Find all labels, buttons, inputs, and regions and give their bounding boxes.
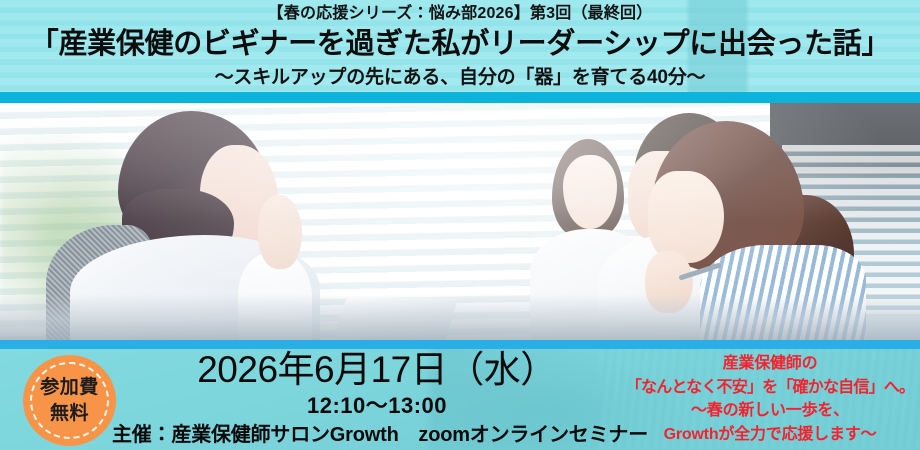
- event-info: 2026年6月17日（水） 12:10〜13:00 主催：産業保健師サロンGro…: [112, 351, 642, 446]
- hero-photo: [0, 103, 920, 340]
- pitch-line-2: 「なんとなく不安」を「確かな自信」へ。: [620, 376, 920, 400]
- divider-bottom: [0, 340, 920, 349]
- page-title: 「産業保健のビギナーを過ぎた私がリーダーシップに出会った話」: [30, 28, 890, 61]
- page-subtitle: 〜スキルアップの先にある、自分の「器」を育てる40分〜: [215, 67, 706, 89]
- event-date: 2026年6月17日（水）: [112, 351, 642, 390]
- person-one-hand: [258, 195, 302, 269]
- pitch-message: 産業保健師の 「なんとなく不安」を「確かな自信」へ。 〜春の新しい一歩を、 Gr…: [620, 352, 920, 447]
- header-band: 【春の応援シリーズ：悩み部2026】第3回（最終回） 「産業保健のビギナーを過ぎ…: [0, 0, 920, 92]
- pitch-line-3: 〜春の新しい一歩を、: [620, 399, 920, 423]
- series-kicker: 【春の応援シリーズ：悩み部2026】第3回（最終回）: [268, 5, 653, 23]
- seminar-banner: 【春の応援シリーズ：悩み部2026】第3回（最終回） 「産業保健のビギナーを過ぎ…: [0, 0, 920, 450]
- pitch-line-1: 産業保健師の: [620, 352, 920, 376]
- person-four-face: [648, 171, 724, 263]
- desk-edge: [0, 294, 920, 340]
- pitch-line-4: Growthが全力で応援します〜: [620, 423, 920, 447]
- badge-fee-value: 無料: [50, 402, 89, 426]
- event-time: 12:10〜13:00: [112, 394, 642, 418]
- badge-fee-label: 参加費: [40, 376, 99, 400]
- event-host: 主催：産業保健師サロンGrowth zoomオンラインセミナー: [112, 424, 642, 446]
- free-admission-badge: 参加費 無料: [23, 355, 116, 446]
- divider-top: [0, 92, 920, 103]
- badge-dashed-ring: [30, 362, 109, 439]
